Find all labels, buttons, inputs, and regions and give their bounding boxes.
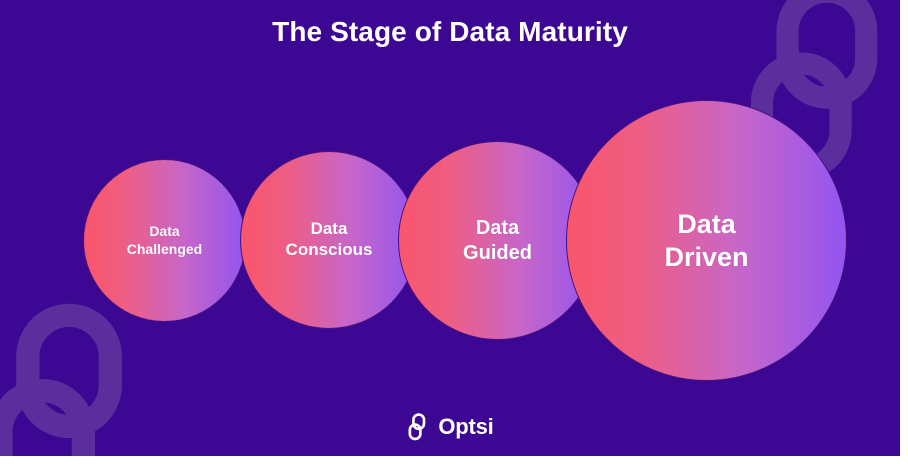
stage-label-data-driven: Data Driven xyxy=(664,208,748,274)
stage-label-data-challenged: Data Challenged xyxy=(127,223,202,257)
stage-circle-data-challenged[interactable]: Data Challenged xyxy=(83,159,246,322)
optsi-chain-link-icon xyxy=(406,412,430,442)
stage-circle-data-conscious[interactable]: Data Conscious xyxy=(240,151,418,329)
infographic-canvas: The Stage of Data Maturity Data Challeng… xyxy=(0,0,900,456)
maturity-stage-group: Data Challenged Data Conscious Data Guid… xyxy=(0,0,900,456)
brand-footer: Optsi xyxy=(0,412,900,442)
stage-label-data-conscious: Data Conscious xyxy=(286,219,373,260)
stage-circle-data-driven[interactable]: Data Driven xyxy=(566,100,847,381)
brand-name: Optsi xyxy=(438,414,493,440)
stage-label-data-guided: Data Guided xyxy=(463,216,532,265)
